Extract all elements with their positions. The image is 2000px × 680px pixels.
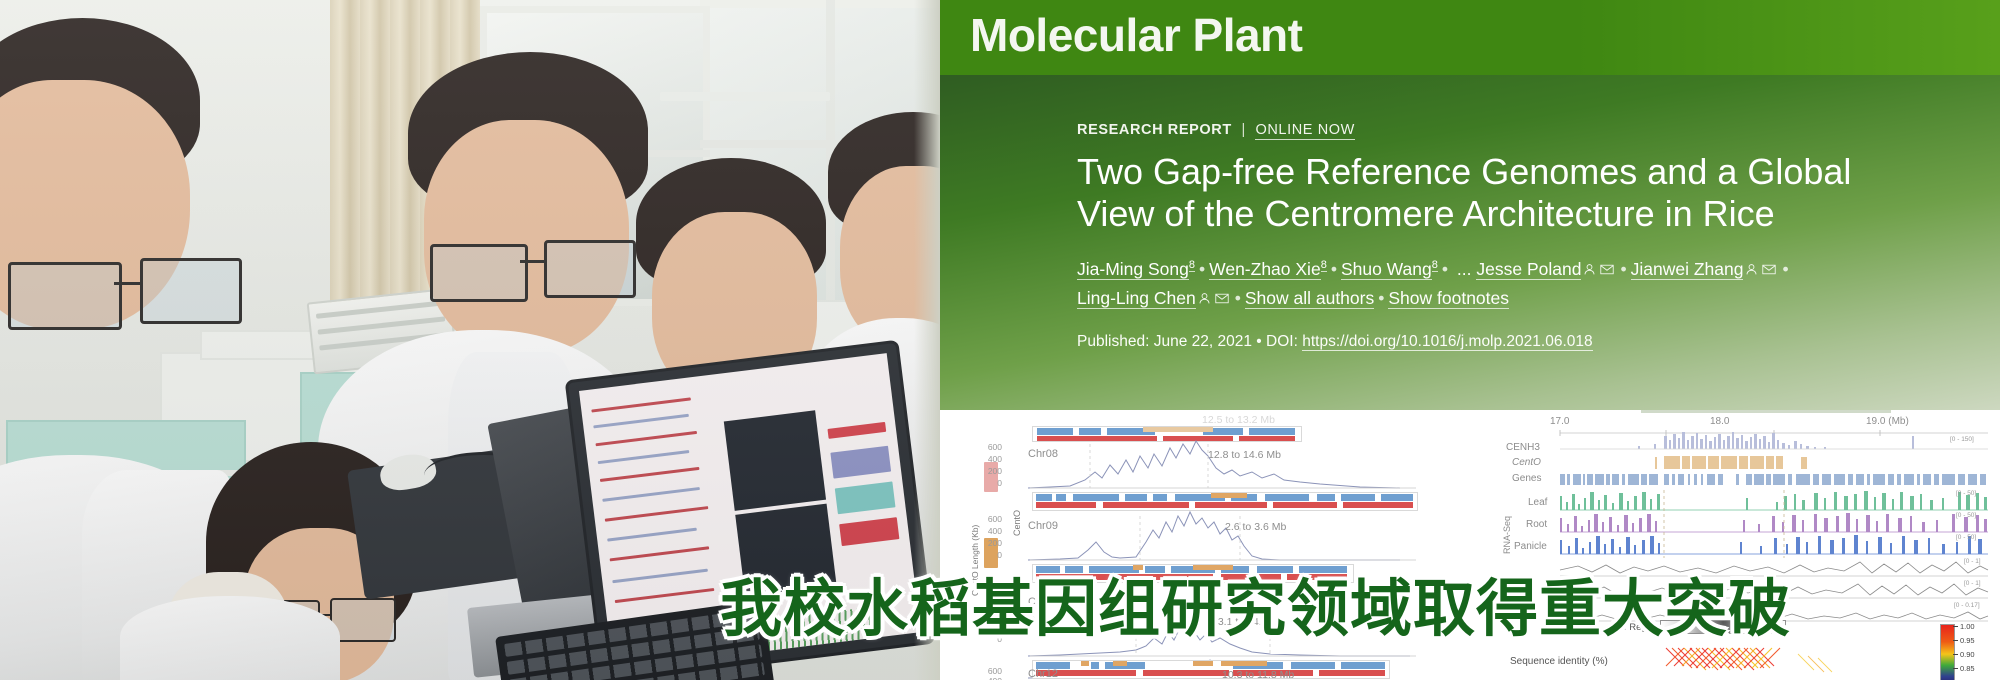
range-chr08: 12.8 to 14.6 Mb xyxy=(1208,449,1281,461)
separator-dot: • xyxy=(1331,259,1337,279)
tray-slot xyxy=(316,300,444,318)
separator-dot: • xyxy=(1620,259,1626,279)
article-hero: RESEARCH REPORT | ONLINE NOW Two Gap-fre… xyxy=(940,75,2000,410)
range-panicle: [0 - 50] xyxy=(1956,534,1976,541)
tray-slot xyxy=(318,316,446,334)
ytick-600: 600 xyxy=(980,442,1002,452)
author-affiliation-sup[interactable]: 8 xyxy=(1321,259,1327,272)
screen-panel-a xyxy=(586,382,732,630)
range-chr07: 12.5 to 13.2 Mb xyxy=(1202,414,1275,426)
face xyxy=(424,120,629,355)
colorbar-tick-095: 0.95 xyxy=(1960,636,1975,645)
label-chr08: Chr08 xyxy=(1028,448,1058,460)
lab-coat xyxy=(120,596,340,680)
track-label-cenh3: CENH3 xyxy=(1506,442,1540,453)
news-banner: Molecular Plant RESEARCH REPORT | ONLINE… xyxy=(0,0,2000,680)
screen-panel-d xyxy=(827,415,907,571)
author-ellipsis: ... xyxy=(1457,259,1472,279)
label-chr09: Chr09 xyxy=(1028,520,1058,532)
separator-dot: • xyxy=(1235,288,1241,308)
author-name[interactable]: Jesse Poland xyxy=(1476,259,1581,280)
separator-dot: • xyxy=(1256,333,1261,350)
glasses xyxy=(8,262,122,330)
chinese-headline: 我校水稻基因组研究领域取得重大突破 xyxy=(720,558,1791,648)
ytick-200: 200 xyxy=(980,538,1002,548)
range-track-7: [0 - 1] xyxy=(1964,558,1981,565)
colorbar-tick-090: 0.90 xyxy=(1960,650,1975,659)
glasses xyxy=(544,240,636,298)
screen-panel-b xyxy=(724,410,826,511)
kicker-status[interactable]: ONLINE NOW xyxy=(1255,122,1354,140)
ytick-600: 600 xyxy=(980,514,1002,524)
legend-label-cento: CentO xyxy=(1012,510,1022,536)
glasses-bridge xyxy=(114,282,142,285)
label-chr12: Chr12 xyxy=(1028,668,1058,680)
mail-icon[interactable] xyxy=(1215,285,1229,313)
ytick-400: 400 xyxy=(980,454,1002,464)
track-group-label-rnaseq: RNA-Seq xyxy=(1502,516,1512,554)
published-date: June 22, 2021 xyxy=(1154,333,1252,350)
ytick-400: 400 xyxy=(980,526,1002,536)
range-root: [0 - 50] xyxy=(1956,512,1976,519)
author-name[interactable]: Ling-Ling Chen xyxy=(1077,288,1196,309)
glasses xyxy=(430,244,528,302)
glasses-bridge xyxy=(520,260,546,263)
doi-label: DOI: xyxy=(1266,333,1298,350)
article-kicker: RESEARCH REPORT | ONLINE NOW xyxy=(1077,122,1355,138)
track-chr07 xyxy=(1032,426,1302,442)
author-affiliation-sup[interactable]: 8 xyxy=(1432,259,1438,272)
show-all-authors-link[interactable]: Show all authors xyxy=(1245,288,1374,309)
separator-dot: • xyxy=(1782,259,1788,279)
author-name[interactable]: Wen-Zhao Xie xyxy=(1209,259,1321,280)
author-name[interactable]: Jia-Ming Song xyxy=(1077,259,1189,280)
track-label-panicle: Panicle xyxy=(1514,541,1547,552)
article-title: Two Gap-free Reference Genomes and a Glo… xyxy=(1077,151,1907,235)
journal-name: Molecular Plant xyxy=(970,8,1302,62)
person-icon[interactable] xyxy=(1198,285,1211,313)
doi-link[interactable]: https://doi.org/10.1016/j.molp.2021.06.0… xyxy=(1302,333,1592,351)
kicker-type: RESEARCH REPORT xyxy=(1077,122,1232,138)
colorbar-tick-100: 1.00 xyxy=(1960,622,1975,631)
publication-line: Published: June 22, 2021 • DOI: https://… xyxy=(1077,333,1593,351)
range-cpg: [0 - 0.17] xyxy=(1954,602,1980,609)
ytick-0: 0 xyxy=(980,478,1002,488)
ytick-200: 200 xyxy=(980,466,1002,476)
track-chr11 xyxy=(1032,660,1390,679)
track-label-leaf: Leaf xyxy=(1528,497,1547,508)
track-label-cento: CentO xyxy=(1512,457,1541,468)
journal-header-bar: Molecular Plant xyxy=(940,0,2000,75)
range-chr09: 2.6 to 3.6 Mb xyxy=(1225,521,1286,533)
author-name[interactable]: Shuo Wang xyxy=(1341,259,1432,280)
mail-icon[interactable] xyxy=(1600,256,1614,284)
author-affiliation-sup[interactable]: 8 xyxy=(1189,259,1195,272)
separator-dot: • xyxy=(1442,259,1448,279)
range-track-8: [0 - 1] xyxy=(1964,580,1981,587)
identity-colorbar xyxy=(1940,624,1955,680)
track-label-root: Root xyxy=(1526,519,1547,530)
range-chr12: 10.3 to 11.8 Mb xyxy=(1222,669,1294,680)
range-leaf: [0 - 50] xyxy=(1956,490,1976,497)
author-name[interactable]: Jianwei Zhang xyxy=(1631,259,1744,280)
ytick-600: 600 xyxy=(980,666,1002,676)
sequence-identity-label: Sequence identity (%) xyxy=(1510,656,1608,667)
separator-dot: • xyxy=(1378,288,1384,308)
mail-icon[interactable] xyxy=(1762,256,1776,284)
ytick-400: 400 xyxy=(980,676,1002,680)
show-footnotes-link[interactable]: Show footnotes xyxy=(1388,288,1509,309)
published-label: Published: xyxy=(1077,333,1149,350)
person-icon[interactable] xyxy=(1745,256,1758,284)
ceiling-light xyxy=(660,92,830,101)
range-cenh3: [0 - 150] xyxy=(1950,436,1974,443)
track-label-genes: Genes xyxy=(1512,473,1541,484)
colorbar-tick-085: 0.85 xyxy=(1960,664,1975,673)
track-chr08 xyxy=(1032,492,1418,511)
separator-dot: • xyxy=(1199,259,1205,279)
kicker-separator: | xyxy=(1241,122,1245,138)
glasses xyxy=(140,258,242,324)
author-list: Jia-Ming Song8•Wen-Zhao Xie8•Shuo Wang8•… xyxy=(1077,255,1937,313)
person-icon[interactable] xyxy=(1583,256,1596,284)
